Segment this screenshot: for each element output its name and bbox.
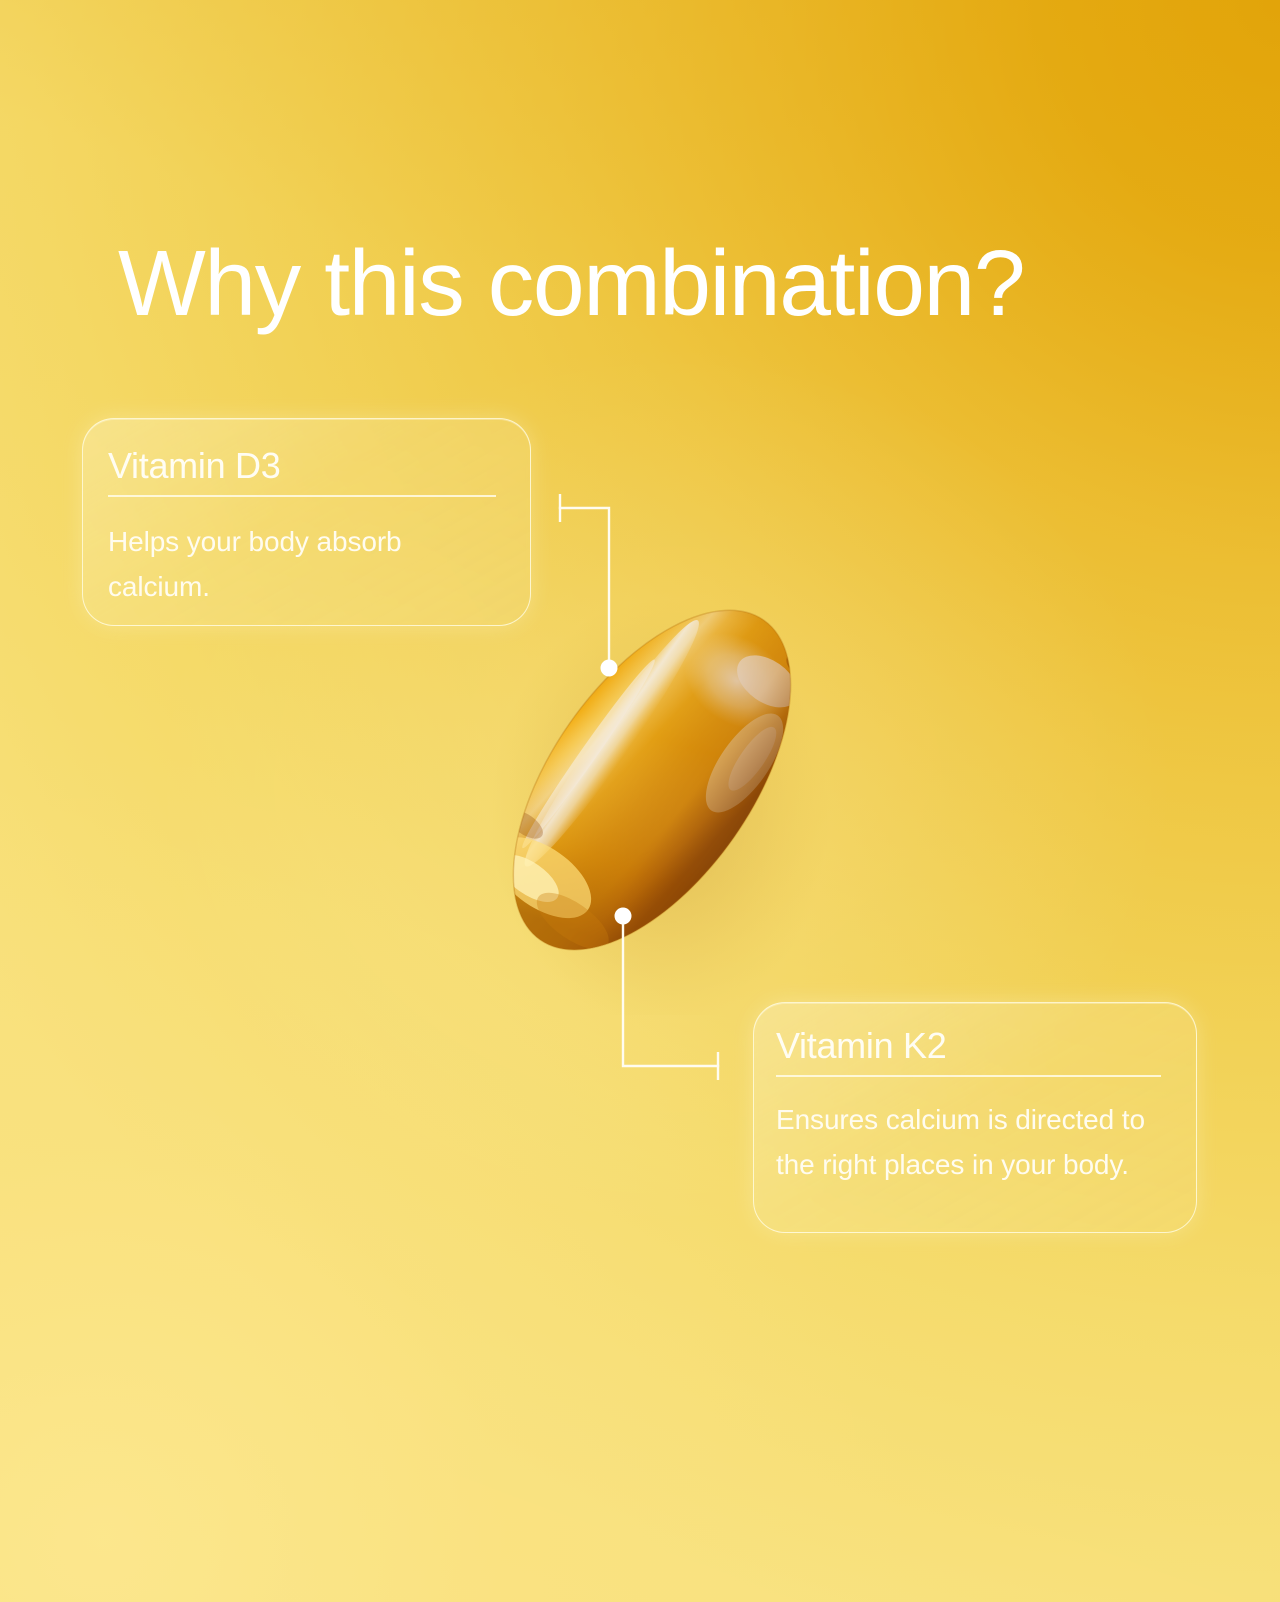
callout-body-vitamin-k2: Ensures calcium is directed to the right… bbox=[776, 1097, 1176, 1188]
callout-title-vitamin-d3: Vitamin D3 bbox=[108, 448, 280, 484]
callout-divider bbox=[108, 495, 496, 497]
callout-divider bbox=[776, 1075, 1161, 1077]
callout-card-vitamin-d3[interactable]: Vitamin D3 Helps your body absorb calciu… bbox=[82, 418, 531, 626]
page-title: Why this combination? bbox=[118, 234, 1188, 333]
callout-title-vitamin-k2: Vitamin K2 bbox=[776, 1028, 946, 1064]
callout-body-vitamin-d3: Helps your body absorb calcium. bbox=[108, 519, 508, 610]
infographic-canvas: Why this combination? Vitamin D3 Helps y… bbox=[0, 0, 1280, 1602]
callout-card-vitamin-k2[interactable]: Vitamin K2 Ensures calcium is directed t… bbox=[753, 1002, 1197, 1233]
